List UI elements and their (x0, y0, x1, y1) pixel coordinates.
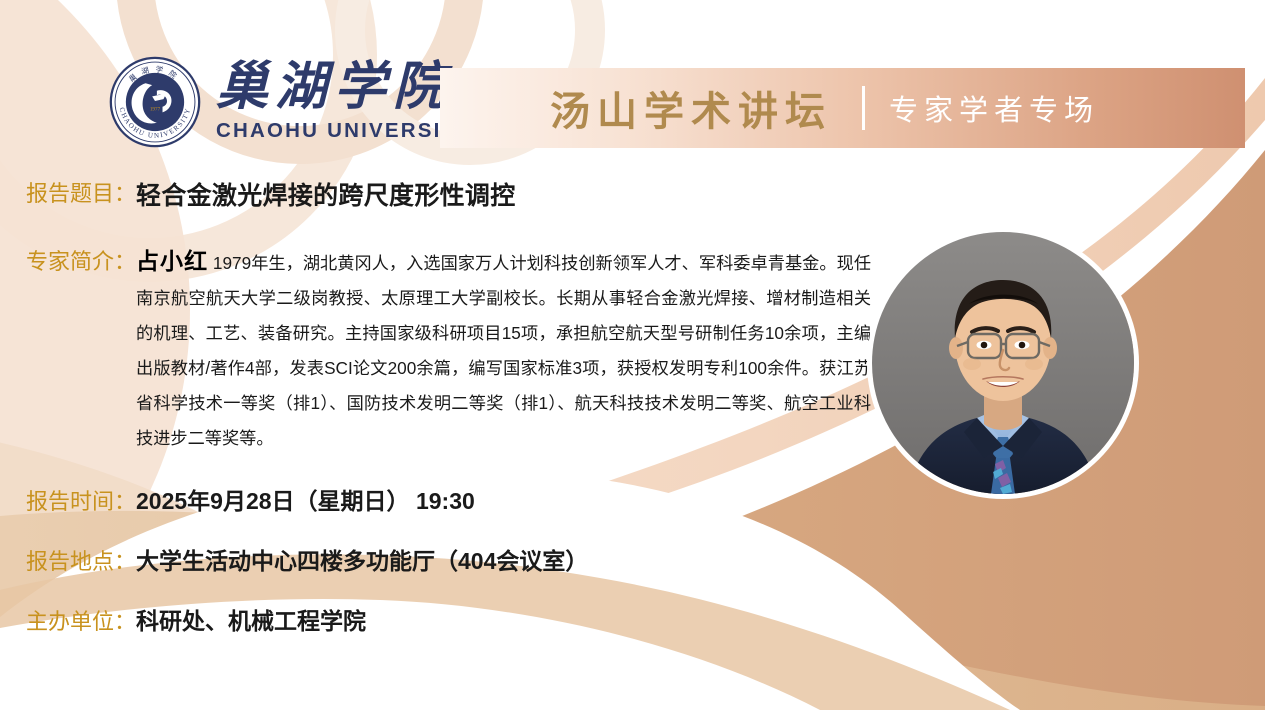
expert-bio-body: 占小红 1979年生，湖北黄冈人，入选国家万人计划科技创新领军人才、军科委卓青基… (136, 244, 871, 456)
organizer-value: 科研处、机械工程学院 (136, 602, 366, 636)
university-wordmark: 巢湖学院 CHAOHU UNIVERSITY (216, 62, 472, 142)
svg-text:1977: 1977 (150, 106, 161, 112)
expert-name: 占小红 (136, 248, 208, 274)
expert-bio-text: 1979年生，湖北黄冈人，入选国家万人计划科技创新领军人才、军科委卓青基金。现任… (136, 253, 871, 448)
report-location-label: 报告地点： (26, 544, 136, 576)
expert-bio-label: 专家简介： (26, 244, 136, 276)
report-time-label: 报告时间： (26, 484, 136, 516)
university-name-en: CHAOHU UNIVERSITY (216, 121, 472, 142)
university-logo: 1977 CHAOHU UNIVERSITY 巢湖学院 巢湖学院 CHAOHU … (108, 55, 472, 149)
field-row-location: 报告地点： 大学生活动中心四楼多功能厅（404会议室） (26, 542, 1265, 576)
speaker-portrait-image (872, 232, 1134, 494)
organizer-label: 主办单位： (26, 604, 136, 636)
poster-header: 1977 CHAOHU UNIVERSITY 巢湖学院 巢湖学院 CHAOHU … (0, 0, 1265, 160)
speaker-portrait (872, 232, 1134, 494)
report-title-value: 轻合金激光焊接的跨尺度形性调控 (136, 176, 516, 212)
forum-banner-subtitle: 专家学者专场 (889, 87, 1099, 129)
lecture-poster: 1977 CHAOHU UNIVERSITY 巢湖学院 巢湖学院 CHAOHU … (0, 0, 1265, 710)
report-title-label: 报告题目： (26, 176, 136, 208)
report-time-value: 2025年9月28日（星期日） 19:30 (136, 482, 475, 516)
banner-divider (862, 86, 865, 130)
report-location-value: 大学生活动中心四楼多功能厅（404会议室） (136, 542, 588, 576)
forum-banner: 汤山学术讲坛 专家学者专场 (440, 68, 1245, 148)
university-emblem-icon: 1977 CHAOHU UNIVERSITY 巢湖学院 (108, 55, 202, 149)
university-name-cn: 巢湖学院 (216, 62, 472, 114)
field-row-title: 报告题目： 轻合金激光焊接的跨尺度形性调控 (26, 176, 1265, 212)
field-row-organizer: 主办单位： 科研处、机械工程学院 (26, 602, 1265, 636)
field-row-time: 报告时间： 2025年9月28日（星期日） 19:30 (26, 482, 1265, 516)
forum-banner-title: 汤山学术讲坛 (550, 79, 832, 137)
